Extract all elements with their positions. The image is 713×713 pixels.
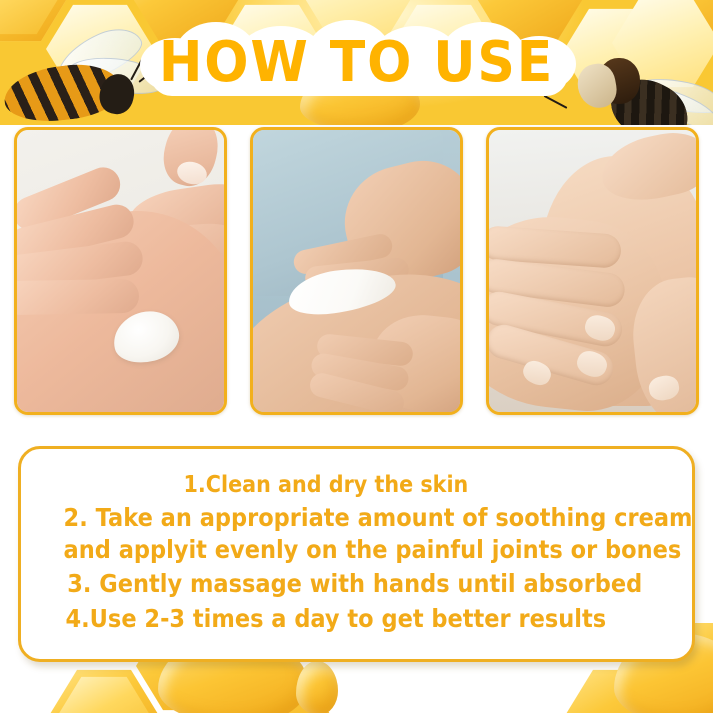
photo-massage-knee[interactable] <box>486 127 699 415</box>
honey-drip-bottom-droplet <box>296 661 338 713</box>
instruction-step-2-line-2: and applyit evenly on the painful joints… <box>64 534 650 566</box>
photo-1-image <box>17 130 224 412</box>
instruction-step-2-line-1: 2. Take an appropriate amount of soothin… <box>64 502 650 534</box>
instructions-card: 1.Clean and dry the skin 2. Take an appr… <box>18 446 695 662</box>
instruction-step-4: 4.Use 2-3 times a day to get better resu… <box>64 601 650 636</box>
photo-apply-cream-to-palm[interactable] <box>14 127 227 415</box>
instruction-step-1: 1.Clean and dry the skin <box>64 469 650 502</box>
page-title: HOW TO USE <box>25 0 688 125</box>
photo-row <box>0 127 713 417</box>
instruction-step-3: 3. Gently massage with hands until absor… <box>64 566 650 601</box>
photo-2-image <box>253 130 460 412</box>
photo-3-image <box>489 130 696 412</box>
photo-apply-cream-to-knee[interactable] <box>250 127 463 415</box>
